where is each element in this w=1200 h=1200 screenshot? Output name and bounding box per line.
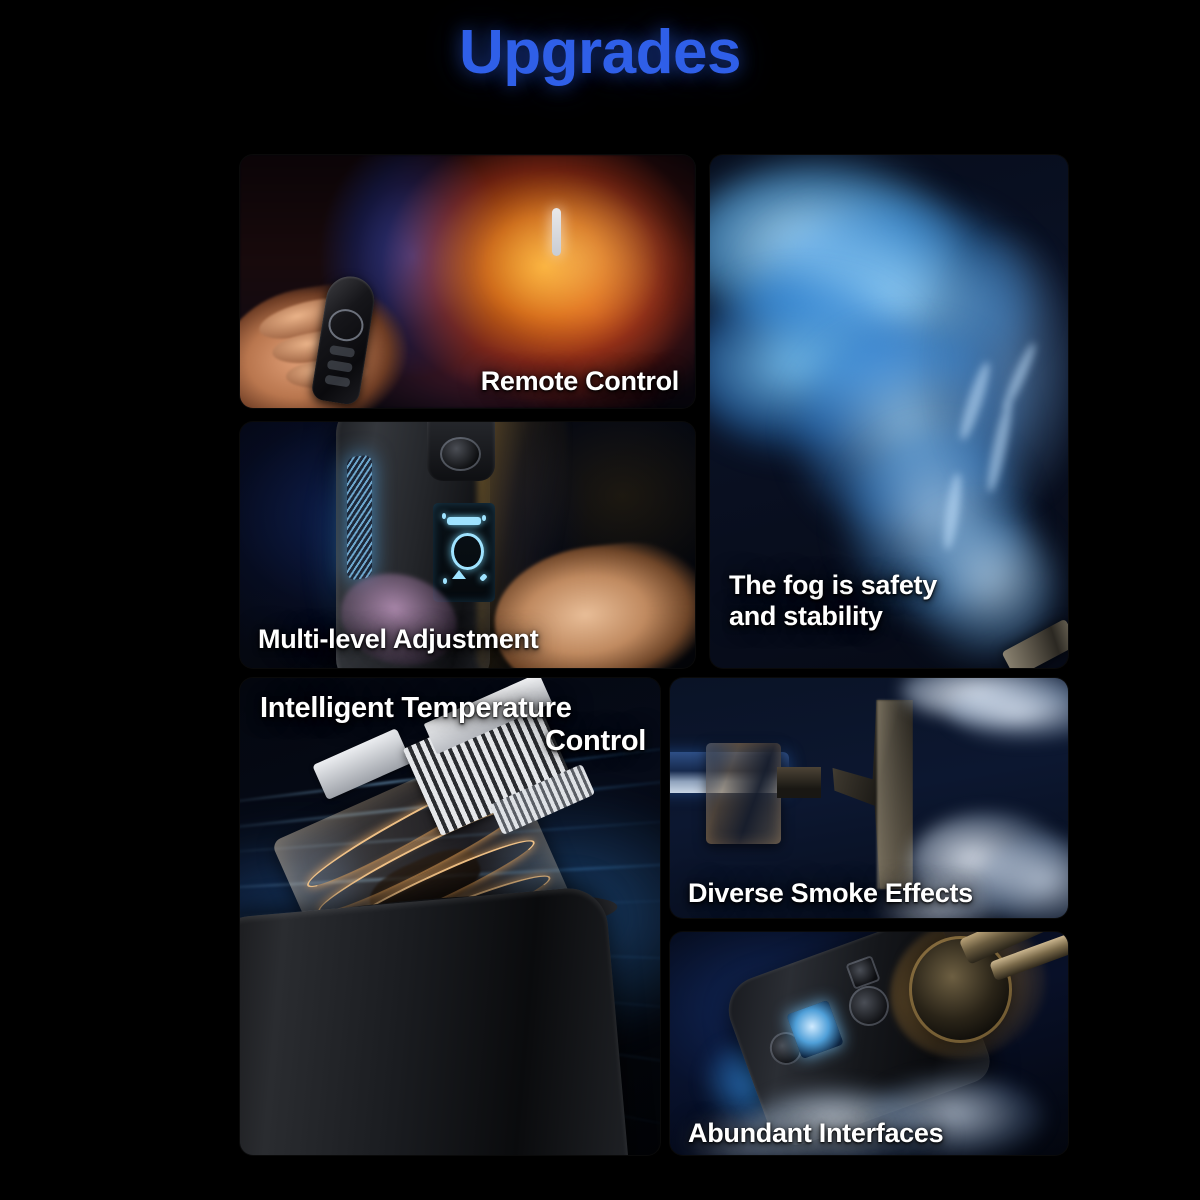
lcd-dot-icon (442, 513, 446, 519)
panel-abundant-interfaces[interactable]: Abundant Interfaces (670, 932, 1068, 1155)
panel-fog-safety-stability[interactable]: The fog is safety and stability (710, 155, 1068, 668)
lcd-ring-icon (451, 533, 484, 570)
panel-caption: Remote Control (481, 366, 679, 397)
caption-line-2: Control (260, 725, 646, 758)
nozzle-neck (777, 767, 821, 798)
caption-line-2: and stability (729, 601, 883, 631)
led-light-bar (552, 208, 561, 256)
feature-panel-grid: Remote Control (240, 155, 1068, 1155)
remote-button (324, 375, 350, 388)
panel-remote-control[interactable]: Remote Control (240, 155, 695, 408)
panel-caption: Abundant Interfaces (688, 1118, 943, 1149)
lcd-diamond-icon (479, 573, 487, 581)
nozzle-ring (440, 437, 481, 471)
nozzle-edge-highlight (877, 700, 913, 890)
panel-caption: Intelligent Temperature Control (260, 692, 646, 758)
lcd-dot-icon (482, 515, 486, 521)
lcd-triangle-icon (452, 570, 466, 579)
remote-button (329, 345, 355, 358)
orange-smoke-wisp (477, 180, 677, 337)
panel-caption: Multi-level Adjustment (258, 624, 538, 655)
panel-multi-level-adjustment[interactable]: Multi-level Adjustment (240, 422, 695, 668)
glass-chamber (706, 743, 782, 844)
vent-grille (347, 455, 372, 581)
caption-line-1: Intelligent Temperature (260, 692, 646, 725)
panel-caption: Diverse Smoke Effects (688, 878, 973, 909)
lcd-dot-icon (443, 578, 447, 584)
lcd-bar-icon (447, 517, 481, 525)
panel-caption: The fog is safety and stability (729, 570, 937, 632)
page-title: Upgrades (0, 22, 1200, 84)
panel-intelligent-temperature-control[interactable]: Intelligent Temperature Control (240, 678, 660, 1155)
upgrades-infographic: Upgrades Remote Control (0, 0, 1200, 1200)
remote-button (326, 360, 352, 373)
caption-line-1: The fog is safety (729, 570, 937, 600)
remote-dial (326, 307, 366, 344)
panel-diverse-smoke-effects[interactable]: Diverse Smoke Effects (670, 678, 1068, 918)
lcd-screen (433, 503, 494, 601)
black-cylinder-base (240, 885, 630, 1155)
